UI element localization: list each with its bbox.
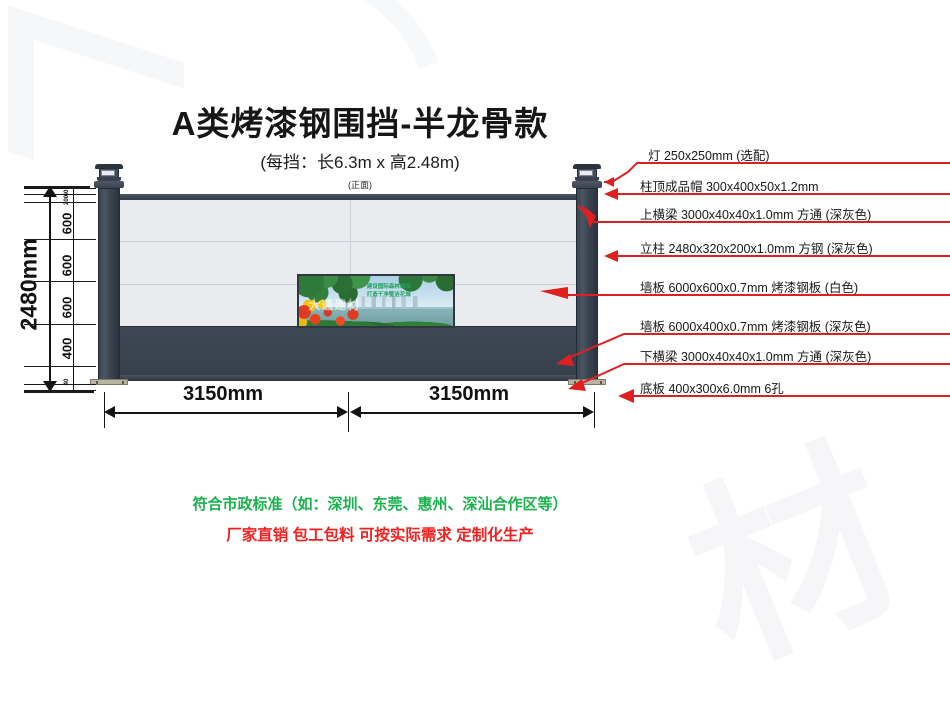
dim-arrow-left-icon	[350, 406, 361, 418]
lamp-foot	[97, 177, 121, 181]
dim-arrow-right-icon	[337, 406, 348, 418]
dim-segment-label: 600	[60, 209, 75, 239]
dim-ext-line	[348, 392, 349, 432]
lamp-right	[575, 164, 599, 181]
dim-ext-line	[24, 281, 96, 282]
base-bolt	[600, 381, 602, 384]
billboard-poster: 建设国际森林城市 打造干净整洁花城 大通建材	[297, 274, 455, 328]
dim-extension-bottom	[24, 391, 94, 393]
annotation-base-plate: 底板 400x300x6.0mm 6孔	[640, 378, 784, 397]
dim-ext-line	[24, 390, 96, 391]
annotation-lamp: 灯 250x250mm (选配)	[648, 145, 770, 164]
dim-segment-label: 40	[64, 367, 70, 397]
fence-elevation-drawing: 建设国际森林城市 打造干净整洁花城 大通建材	[88, 180, 608, 392]
total-height-label: 2480mm	[16, 241, 43, 331]
leader-arrow-base-plate	[618, 389, 634, 403]
lamp-foot	[575, 177, 599, 181]
annotation-bottom-beam: 下横梁 3000x40x40x1.0mm 方通 (深灰色)	[640, 346, 871, 365]
dim-ext-line	[24, 239, 96, 240]
annotation-panel-gray: 墙板 6000x400x0.7mm 烤漆钢板 (深灰色)	[640, 316, 871, 335]
top-beam	[110, 194, 587, 200]
base-bolt	[122, 381, 124, 384]
column-left	[98, 188, 120, 381]
dim-segment-label: 600	[60, 293, 75, 323]
poster-slogan: 建设国际森林城市 打造干净整洁花城	[367, 283, 411, 300]
dim-line-bay-2	[356, 412, 588, 414]
bay-1-length-label: 3150mm	[133, 383, 313, 406]
diagram-canvas: 材 大通建材 A类烤漆钢围挡-半龙骨款 (每挡：长6.3m x 高2.48m) …	[0, 0, 950, 603]
dim-ext-line	[594, 392, 595, 428]
lamp-glass	[579, 170, 593, 176]
annotation-post-cap: 柱顶成品帽 300x400x50x1.2mm	[640, 176, 819, 195]
dim-ext-line	[24, 188, 96, 189]
annotation-top-beam: 上横梁 3000x40x40x1.0mm 方通 (深灰色)	[640, 204, 871, 223]
page-title: A类烤漆钢围挡-半龙骨款	[0, 97, 720, 145]
dim-arrow-left-icon	[104, 406, 115, 418]
bottom-beam	[110, 375, 587, 381]
base-bolt	[96, 381, 98, 384]
dim-ext-line	[24, 324, 96, 325]
dim-ext-line	[24, 384, 96, 385]
poster-slogan-line1: 建设国际森林城市	[367, 283, 411, 291]
wall-panel-dark-band	[111, 326, 588, 381]
poster-slogan-line2: 打造干净整洁花城	[367, 291, 411, 299]
annotation-panel-white: 墙板 6000x600x0.7mm 烤漆钢板 (白色)	[640, 277, 858, 296]
dim-arrow-right-icon	[583, 406, 594, 418]
sales-text: 厂家直销 包工包料 可按实际需求 定制化生产	[0, 523, 760, 545]
base-bolt	[574, 381, 576, 384]
post-cap-right	[572, 181, 602, 188]
dim-segment-label: 400	[60, 334, 75, 364]
dim-ext-line	[24, 202, 96, 203]
dim-ext-line	[24, 194, 96, 195]
dim-ext-line	[24, 366, 96, 367]
post-cap-left	[94, 181, 124, 188]
standards-text: 符合市政标准（如：深圳、东莞、惠州、深汕合作区等）	[0, 493, 760, 514]
lamp-left	[97, 164, 121, 181]
wall-panel-area: 建设国际森林城市 打造干净整洁花城 大通建材	[110, 198, 589, 381]
bay-2-length-label: 3150mm	[379, 383, 559, 406]
dim-segment-label: 600	[60, 251, 75, 281]
lamp-glass	[101, 170, 115, 176]
poster-watermark: 大通建材	[308, 296, 360, 313]
total-height-dim-line	[49, 193, 51, 383]
column-right	[576, 188, 598, 381]
annotation-column: 立柱 2480x320x200x1.0mm 方钢 (深灰色)	[640, 238, 873, 257]
dim-line-bay-1	[110, 412, 342, 414]
